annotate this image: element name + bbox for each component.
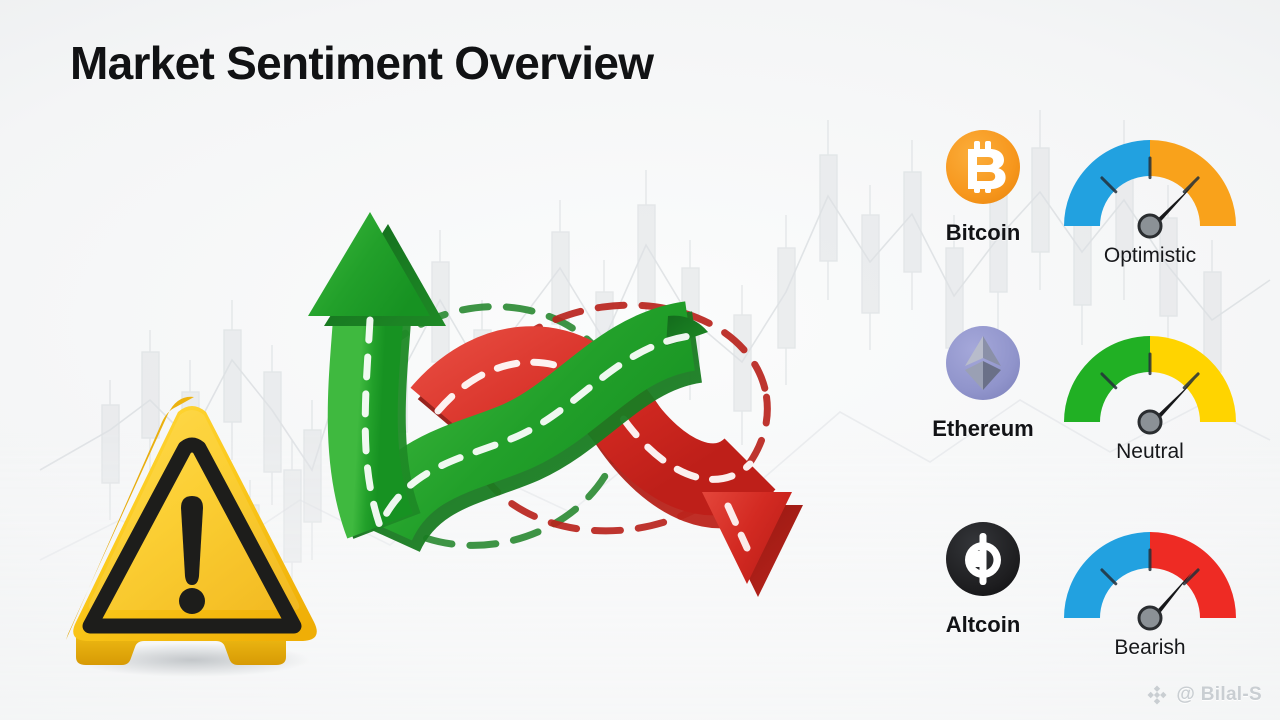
watermark-text: @ Bilal-S [1176, 684, 1262, 706]
gauge-bitcoin[interactable]: Optimistic [1060, 130, 1240, 268]
coin-label-ethereum: Ethereum [908, 416, 1058, 442]
ethereum-icon [944, 324, 1022, 402]
gauge-label-bitcoin: Optimistic [1060, 244, 1240, 268]
slide-canvas: Market Sentiment Overview [0, 0, 1280, 720]
watermark: @ Bilal-S [1146, 684, 1262, 706]
coin-label-altcoin: Altcoin [908, 612, 1058, 638]
gauge-label-ethereum: Neutral [1060, 440, 1240, 464]
altcoin-icon [944, 520, 1022, 598]
coin-label-bitcoin: Bitcoin [908, 220, 1058, 246]
sentiment-panel: Bitcoin [900, 128, 1240, 700]
gauge-ethereum[interactable]: Neutral [1060, 326, 1240, 464]
binance-diamond-icon [1146, 684, 1168, 706]
warning-triangle-icon [52, 388, 322, 678]
sentiment-row-ethereum[interactable]: Ethereum Neutral [900, 324, 1240, 494]
gauge-label-altcoin: Bearish [1060, 636, 1240, 660]
coin-block-ethereum: Ethereum [908, 324, 1058, 442]
page-title: Market Sentiment Overview [70, 36, 653, 90]
bitcoin-icon [944, 128, 1022, 206]
sentiment-row-bitcoin[interactable]: Bitcoin [900, 128, 1240, 298]
coin-block-altcoin: Altcoin [908, 520, 1058, 638]
market-trend-arrows [288, 196, 828, 626]
sentiment-row-altcoin[interactable]: Altcoin Bearish [900, 520, 1240, 690]
coin-block-bitcoin: Bitcoin [908, 128, 1058, 246]
gauge-altcoin[interactable]: Bearish [1060, 522, 1240, 660]
